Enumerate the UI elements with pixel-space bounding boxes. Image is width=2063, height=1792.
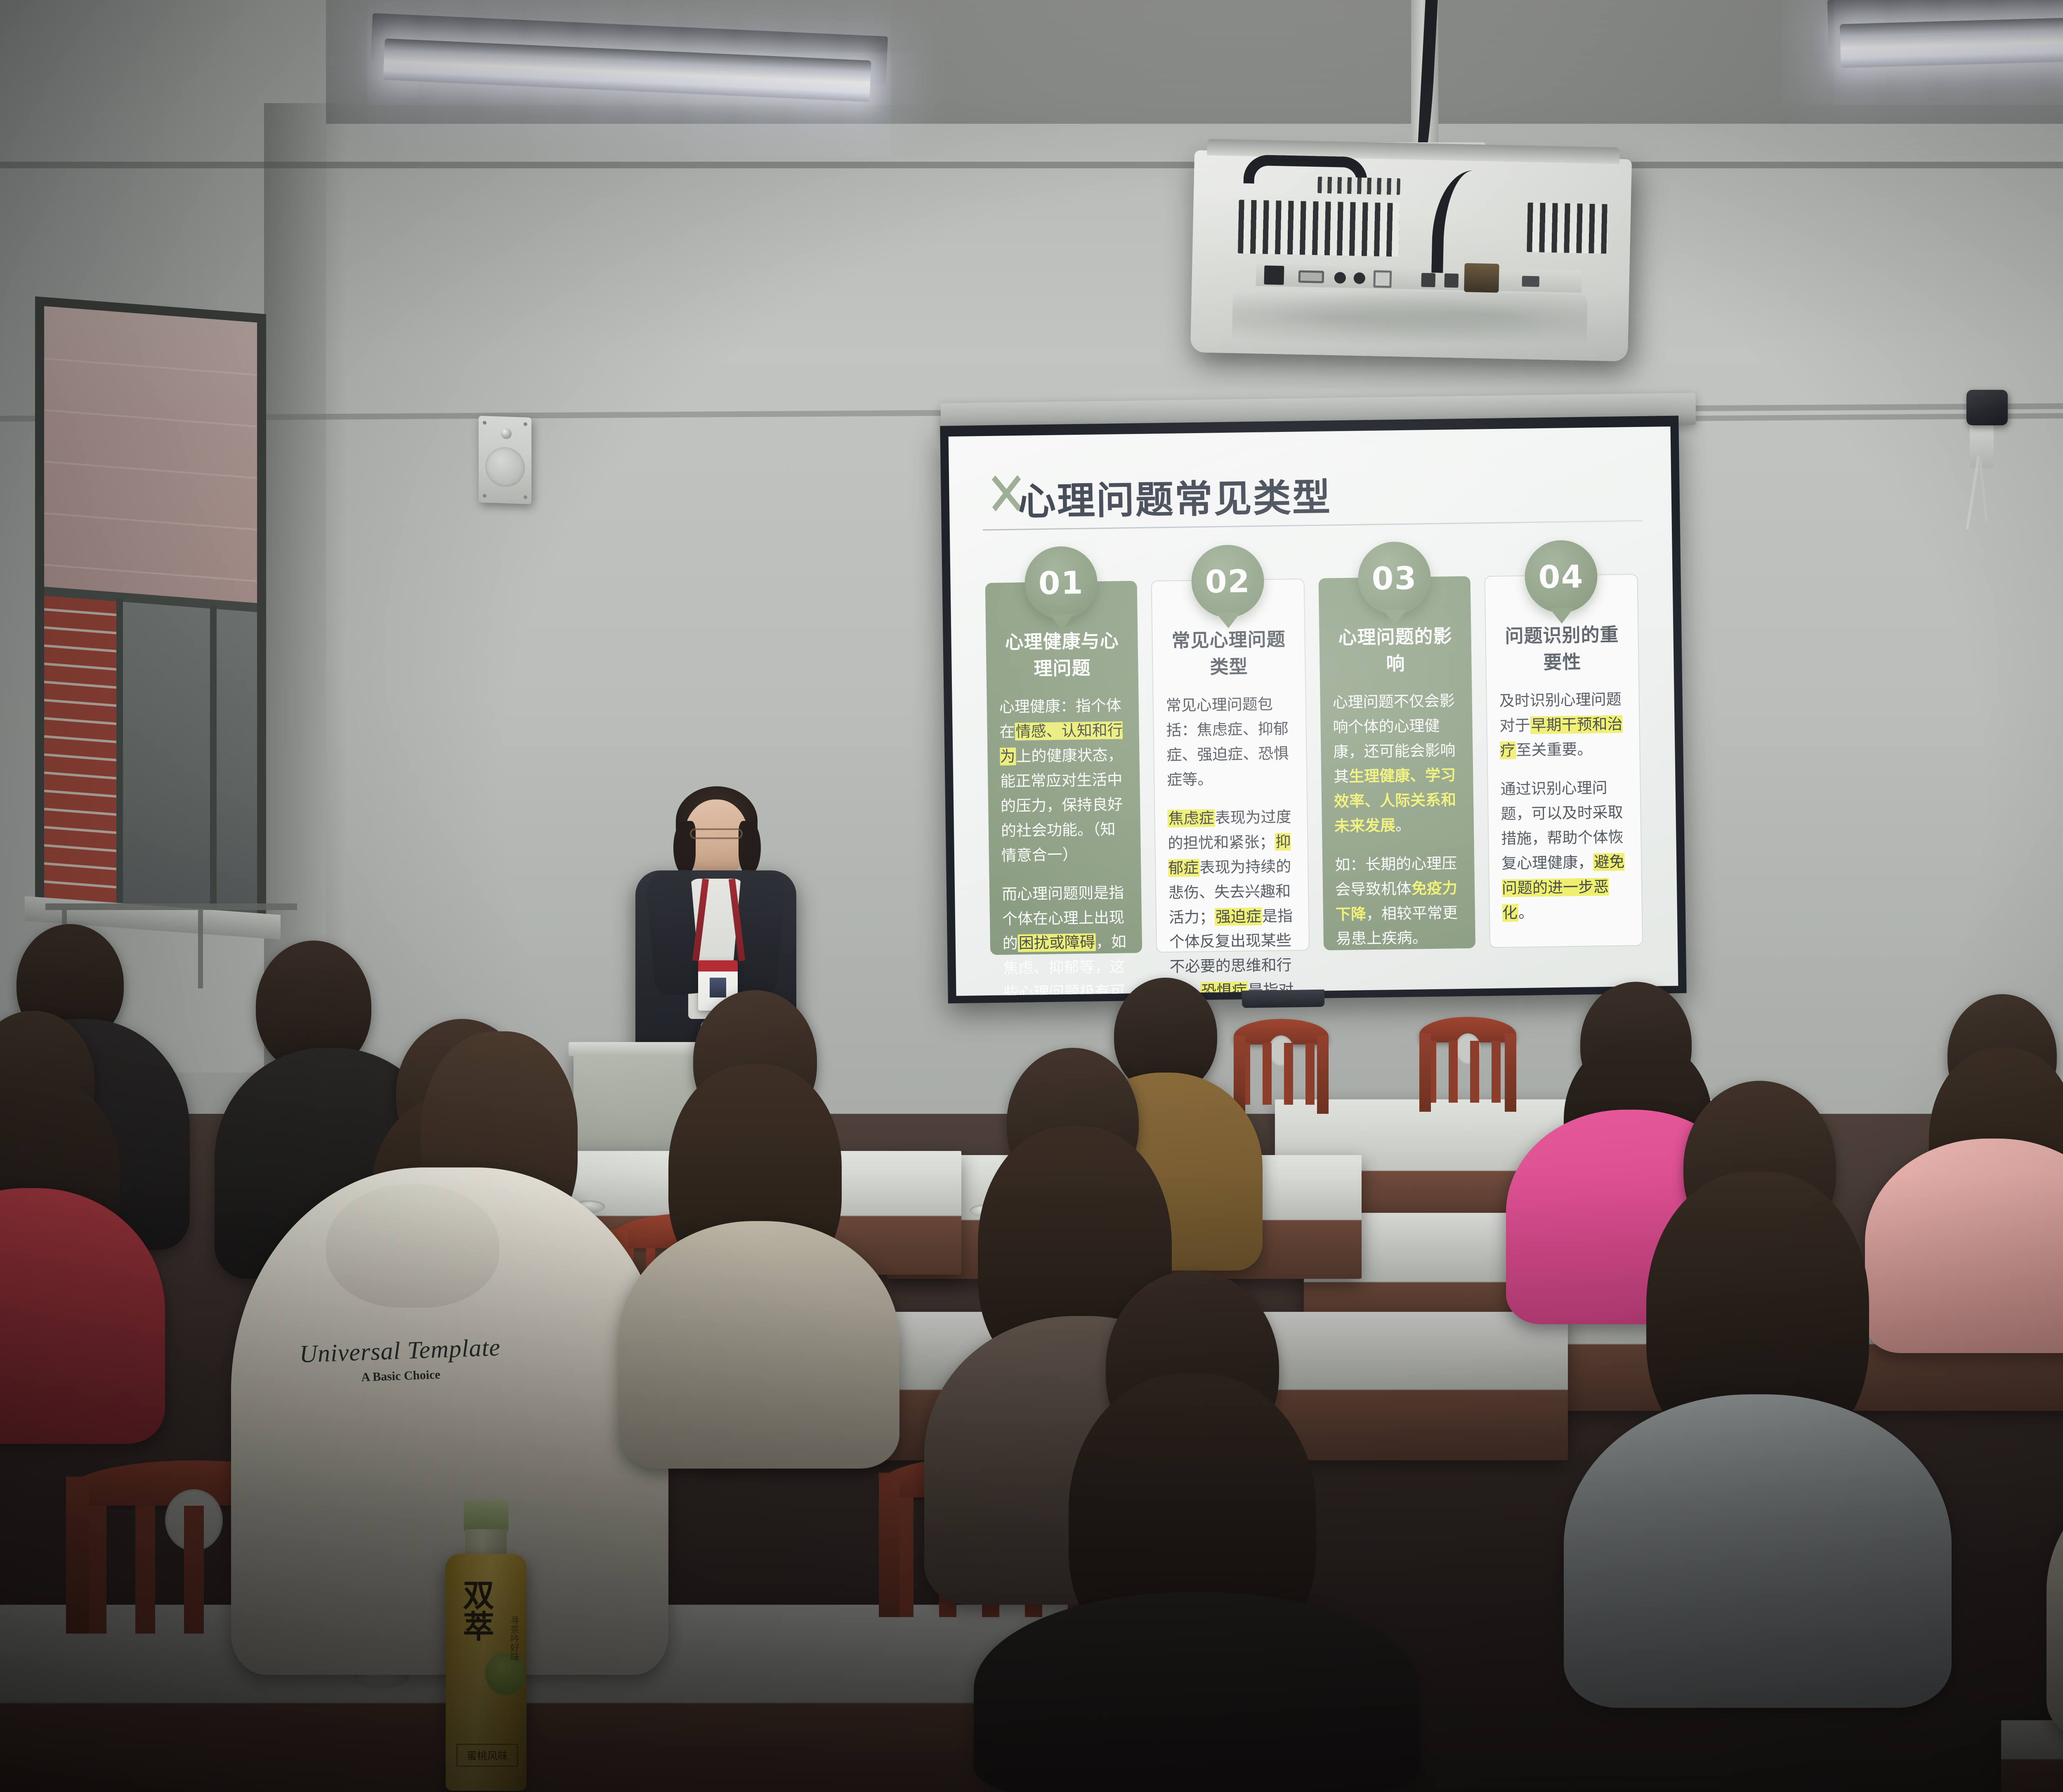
camera-housing-icon xyxy=(1966,390,2008,425)
body-text: 至关重要。 xyxy=(1516,740,1593,759)
presenter-hair-right xyxy=(739,821,761,875)
slide-card-number: 02 xyxy=(1205,563,1251,600)
projector-vga-port xyxy=(1298,270,1324,283)
slide-card-paragraph: 焦虑症表现为过度的担忧和紧张；抑郁症表现为持续的悲伤、失去兴趣和活力；强迫症是指… xyxy=(1167,804,1298,996)
classroom-scene: ✕ 心理问题常见类型 01心理健康与心理问题心理健康：指个体在情感、认知和行为上… xyxy=(0,0,2063,1792)
ceiling-projector xyxy=(1190,150,1632,361)
slide-card-paragraph: 及时识别心理问题对于早期干预和治疗至关重要。 xyxy=(1499,687,1627,763)
speaker-tweeter-icon xyxy=(501,428,512,439)
projector-casing-wear xyxy=(1232,287,1588,352)
projector-vent-top xyxy=(1317,177,1400,195)
window-mullion-vertical-2 xyxy=(210,605,217,916)
window-upper-pane xyxy=(44,306,257,609)
body-text: 上的健康状态，能正常应对生活中的压力，保持良好的社会功能。（知情意合一） xyxy=(1000,746,1123,864)
body-text: 。 xyxy=(1518,903,1534,922)
slide-card-paragraph: 如：长期的心理压会导致机体免疫力下降，相较平常更易患上疾病。 xyxy=(1335,851,1463,952)
hoodie-hood xyxy=(326,1184,499,1308)
slide-card-number: 03 xyxy=(1371,559,1417,597)
slide-card-badge-03: 03 xyxy=(1357,541,1431,615)
bottle-cap xyxy=(464,1500,508,1532)
projector-hdmi-port-1 xyxy=(1421,273,1435,288)
projector-vent-left xyxy=(1238,200,1400,257)
slide-title: 心理问题常见类型 xyxy=(1017,467,1332,526)
slide-card-03: 03心理问题的影响心理问题不仅会影响个体的心理健康，还可能会影响其生理健康、学习… xyxy=(1319,576,1476,950)
slide-card-badge-01: 01 xyxy=(1024,546,1098,619)
slide-card-02: 02常见心理问题类型常见心理问题包括：焦虑症、抑郁症、强迫症、恐惧症等。焦虑症表… xyxy=(1151,578,1310,953)
chair-back-2 xyxy=(1419,1017,1516,1112)
ceiling-trim xyxy=(0,162,2063,168)
slide-card-title: 心理健康与心理问题 xyxy=(998,625,1126,681)
window xyxy=(35,296,266,929)
presenter-glasses xyxy=(690,828,743,839)
badge-photo xyxy=(710,978,726,997)
projector-signal-cable xyxy=(1431,170,1491,274)
drink-bottle: 双萃 寻茶吟好味 蜜桃风味 xyxy=(438,1500,533,1791)
bottle-side-text: 寻茶吟好味 xyxy=(507,1616,520,1661)
slide-header: ✕ 心理问题常见类型 xyxy=(977,451,1643,538)
presentation-slide: ✕ 心理问题常见类型 01心理健康与心理问题心理健康：指个体在情感、认知和行为上… xyxy=(949,427,1678,996)
projection-screen-weight-bar xyxy=(1242,990,1325,1008)
slide-card-title: 问题识别的重要性 xyxy=(1498,619,1626,674)
slide-card-list: 01心理健康与心理问题心理健康：指个体在情感、认知和行为上的健康状态，能正常应对… xyxy=(979,529,1649,955)
slide-card-badge-02: 02 xyxy=(1191,545,1264,618)
body-text: 。 xyxy=(1395,816,1411,834)
camera-bracket xyxy=(1970,419,1994,468)
slide-card-paragraph: 心理健康：指个体在情感、认知和行为上的健康状态，能正常应对生活中的压力，保持良好… xyxy=(999,693,1128,868)
projector-port-blank xyxy=(1264,266,1284,285)
highlighted-text: 强迫症 xyxy=(1215,907,1263,926)
projector-lan-port xyxy=(1373,270,1392,288)
brick-wall-outside xyxy=(44,592,116,908)
slide-card-number: 04 xyxy=(1538,558,1584,595)
slide-card-number: 01 xyxy=(1038,564,1084,601)
bottle-flavor-label: 蜜桃风味 xyxy=(456,1744,518,1767)
slide-card-title: 心理问题的影响 xyxy=(1331,621,1459,676)
security-camera xyxy=(1964,390,2010,443)
slide-card-paragraph: 心理问题不仅会影响个体的心理健康，还可能会影响其生理健康、学习效率、人际关系和未… xyxy=(1332,689,1461,839)
slide-card-04: 04问题识别的重要性及时识别心理问题对于早期干预和治疗至关重要。通过识别心理问题… xyxy=(1485,574,1643,948)
wall-speaker-left xyxy=(479,416,531,504)
projector-hdmi-port-2 xyxy=(1444,274,1459,288)
window-mullion-vertical xyxy=(116,598,123,909)
projector-usb-port xyxy=(1522,276,1539,287)
projection-screen: ✕ 心理问题常见类型 01心理健康与心理问题心理健康：指个体在情感、认知和行为上… xyxy=(940,416,1686,1004)
bottle-brand-label: 双萃 xyxy=(456,1579,491,1641)
body-text: 常见心理问题包括：焦虑症、抑郁症、强迫症、恐惧症等。 xyxy=(1166,695,1289,788)
slide-card-01: 01心理健康与心理问题心理健康：指个体在情感、认知和行为上的健康状态，能正常应对… xyxy=(985,581,1142,955)
hoodie-print: Universal Template A Basic Choice xyxy=(263,1332,537,1388)
bottle-body: 双萃 寻茶吟好味 蜜桃风味 xyxy=(446,1554,526,1791)
desk-row-foreground-right xyxy=(2001,1720,2063,1792)
chair-back-1 xyxy=(1234,1019,1329,1114)
slide-card-badge-04: 04 xyxy=(1524,540,1598,613)
highlighted-text: 焦虑症 xyxy=(1167,809,1215,828)
highlighted-text: 困扰或障碍 xyxy=(1018,934,1096,953)
slide-card-paragraph: 通过识别心理问题，可以及时采取措施，帮助个体恢复心理健康，避免问题的进一步恶化。 xyxy=(1500,775,1629,925)
projection-screen-surface: ✕ 心理问题常见类型 01心理健康与心理问题心理健康：指个体在情感、认知和行为上… xyxy=(949,427,1678,996)
slide-card-paragraph: 常见心理问题包括：焦虑症、抑郁症、强迫症、恐惧症等。 xyxy=(1166,692,1294,792)
projector-vent-right xyxy=(1527,203,1608,254)
speaker-cone-icon xyxy=(485,446,525,487)
highlighted-text: 恐惧症 xyxy=(1200,982,1248,996)
slide-card-paragraph: 而心理问题则是指个体在心理上出现的困扰或障碍，如焦虑、抑郁等，这些心理问题极有可… xyxy=(1002,880,1131,996)
slide-card-title: 常见心理问题类型 xyxy=(1165,624,1293,679)
